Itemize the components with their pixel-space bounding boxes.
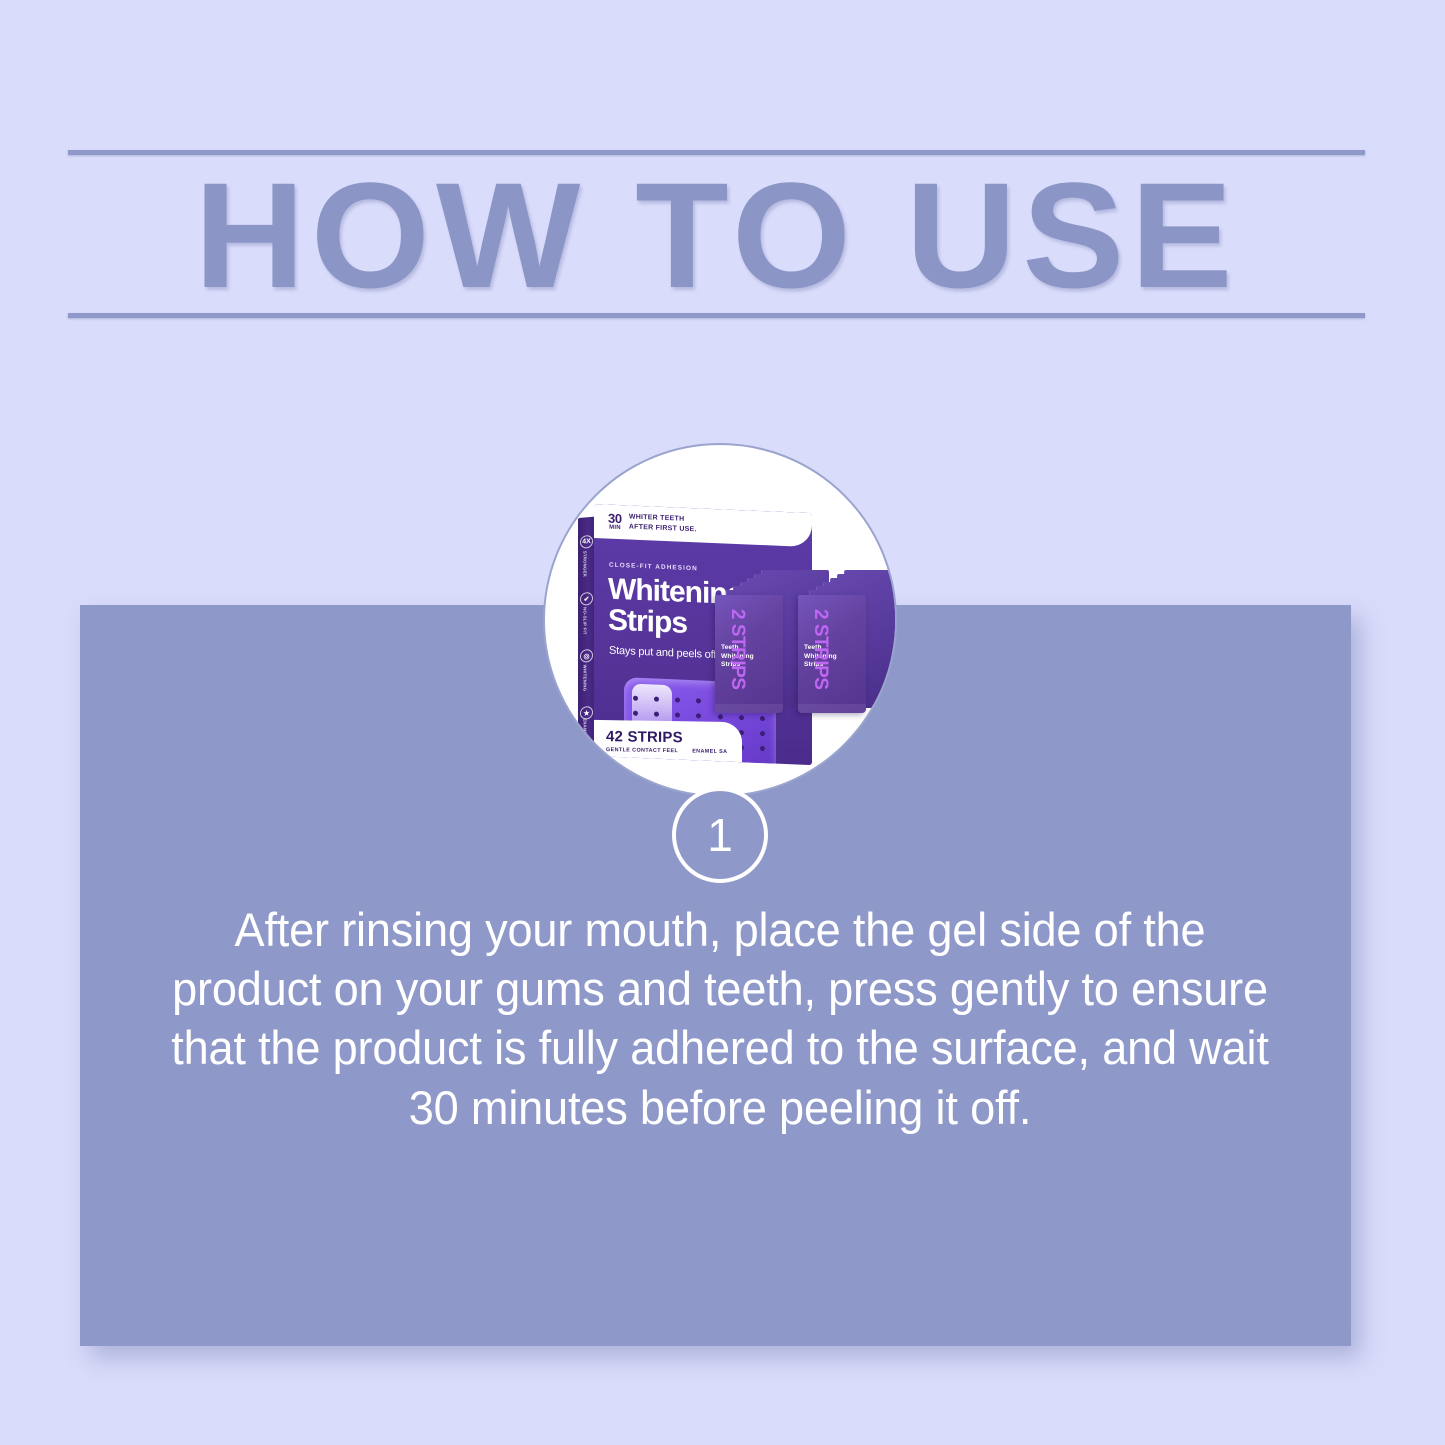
box-claim-line2: AFTER FIRST USE. [629, 522, 697, 534]
box-tagline: Stays put and peels off e [609, 645, 725, 662]
box-duration: 30 MIN [608, 512, 622, 532]
header-rule-bottom [68, 313, 1365, 318]
step-instruction-text: After rinsing your mouth, place the gel … [163, 900, 1277, 1137]
step-number-badge: 1 [672, 787, 768, 883]
box-top-banner: 30 MIN WHITER TEETH AFTER FIRST USE. [594, 504, 812, 547]
box-eyebrow: CLOSE-FIT ADHESION [609, 562, 698, 573]
box-duration-block: 30 MIN WHITER TEETH AFTER FIRST USE. [608, 512, 697, 535]
product-scene: 4X STRONGER ✔ NO-SLIP FIT ◎ WHITENING ★ … [545, 445, 897, 797]
sachet-front-right: Teeth Whitening Strips 2 STRIPS [798, 595, 866, 713]
sachet-front-left: Teeth Whitening Strips 2 STRIPS [715, 595, 783, 713]
header-block: HOW TO USE [68, 150, 1365, 320]
spine-label-2: WHITENING [583, 655, 588, 701]
box-feature-2: ENAMEL SA [692, 748, 727, 755]
box-strip-count: 42 STRIPS [606, 728, 683, 746]
product-box-spine: 4X STRONGER ✔ NO-SLIP FIT ◎ WHITENING ★ … [578, 517, 595, 766]
box-feature-list: GENTLE CONTACT FEEL ENAMEL SA [606, 747, 727, 755]
box-feature-1: GENTLE CONTACT FEEL [606, 747, 678, 754]
sachet-count-left: 2 STRIPS [726, 609, 748, 701]
page-title: HOW TO USE [55, 156, 1378, 313]
spine-label-1: NO-SLIP FIT [583, 598, 588, 644]
box-duration-value: 30 [608, 512, 622, 526]
box-duration-unit: MIN [608, 525, 622, 532]
spine-label-0: STRONGER [583, 541, 588, 587]
product-image-circle: 4X STRONGER ✔ NO-SLIP FIT ◎ WHITENING ★ … [543, 443, 897, 797]
box-bottom-banner: 42 STRIPS GENTLE CONTACT FEEL ENAMEL SA [594, 720, 742, 765]
box-claim: WHITER TEETH AFTER FIRST USE. [629, 513, 697, 535]
sachet-count-right: 2 STRIPS [809, 609, 831, 701]
spine-label-3: ENAMEL SAFE [583, 712, 588, 758]
